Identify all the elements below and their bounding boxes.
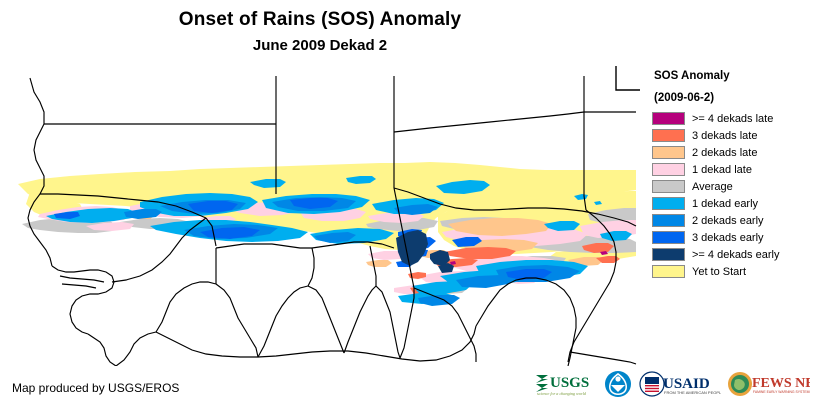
legend-item: 2 dekads late <box>648 144 814 161</box>
legend-swatch <box>652 214 685 227</box>
legend-date: (2009-06-2) <box>654 92 814 104</box>
legend-item: Average <box>648 178 814 195</box>
legend-item: 3 dekads late <box>648 127 814 144</box>
legend-swatch <box>652 146 685 159</box>
legend-swatch <box>652 197 685 210</box>
legend-item: 1 dekad late <box>648 161 814 178</box>
page-title: Onset of Rains (SOS) Anomaly <box>179 9 462 31</box>
legend-swatch <box>652 180 685 193</box>
svg-text:USGS: USGS <box>550 375 589 391</box>
agency-logos: USGS science for a changing world USAID … <box>535 368 810 400</box>
legend-title: SOS Anomaly <box>654 70 814 82</box>
legend-label: 2 dekads late <box>692 147 757 159</box>
legend-label: 2 dekads early <box>692 215 764 227</box>
legend-swatch <box>652 112 685 125</box>
legend-swatch <box>652 163 685 176</box>
map-svg <box>0 66 641 366</box>
map-credit: Map produced by USGS/EROS <box>12 381 179 395</box>
legend-item: >= 4 dekads late <box>648 110 814 127</box>
map-legend: SOS Anomaly (2009-06-2) >= 4 dekads late… <box>648 70 814 280</box>
legend-item: Yet to Start <box>648 263 814 280</box>
legend-swatch <box>652 129 685 142</box>
legend-rows: >= 4 dekads late3 dekads late2 dekads la… <box>648 110 814 280</box>
map-title-block: Onset of Rains (SOS) Anomaly June 2009 D… <box>0 0 640 66</box>
svg-text:FAMINE EARLY WARNING SYSTEMS N: FAMINE EARLY WARNING SYSTEMS NETWORK <box>753 390 810 394</box>
map-canvas[interactable] <box>0 66 641 366</box>
legend-label: Average <box>692 181 733 193</box>
page-subtitle: June 2009 Dekad 2 <box>253 37 387 54</box>
usaid-logo: USAID FROM THE AMERICAN PEOPLE <box>639 369 721 399</box>
svg-text:FEWS NET: FEWS NET <box>752 376 810 391</box>
legend-item: >= 4 dekads early <box>648 246 814 263</box>
legend-item: 2 dekads early <box>648 212 814 229</box>
legend-label: >= 4 dekads late <box>692 113 773 125</box>
legend-item: 1 dekad early <box>648 195 814 212</box>
legend-label: 1 dekad late <box>692 164 752 176</box>
svg-text:science for a changing world: science for a changing world <box>537 391 587 396</box>
legend-label: 3 dekads early <box>692 232 764 244</box>
legend-swatch <box>652 265 685 278</box>
legend-label: 3 dekads late <box>692 130 757 142</box>
legend-label: >= 4 dekads early <box>692 249 779 261</box>
svg-text:FROM THE AMERICAN PEOPLE: FROM THE AMERICAN PEOPLE <box>664 390 721 395</box>
legend-label: 1 dekad early <box>692 198 758 210</box>
legend-swatch <box>652 248 685 261</box>
legend-swatch <box>652 231 685 244</box>
noaa-logo <box>604 369 632 399</box>
usgs-logo: USGS science for a changing world <box>535 369 597 399</box>
legend-item: 3 dekads early <box>648 229 814 246</box>
fews-net-logo: FEWS NET FAMINE EARLY WARNING SYSTEMS NE… <box>728 369 810 399</box>
legend-label: Yet to Start <box>692 266 746 278</box>
